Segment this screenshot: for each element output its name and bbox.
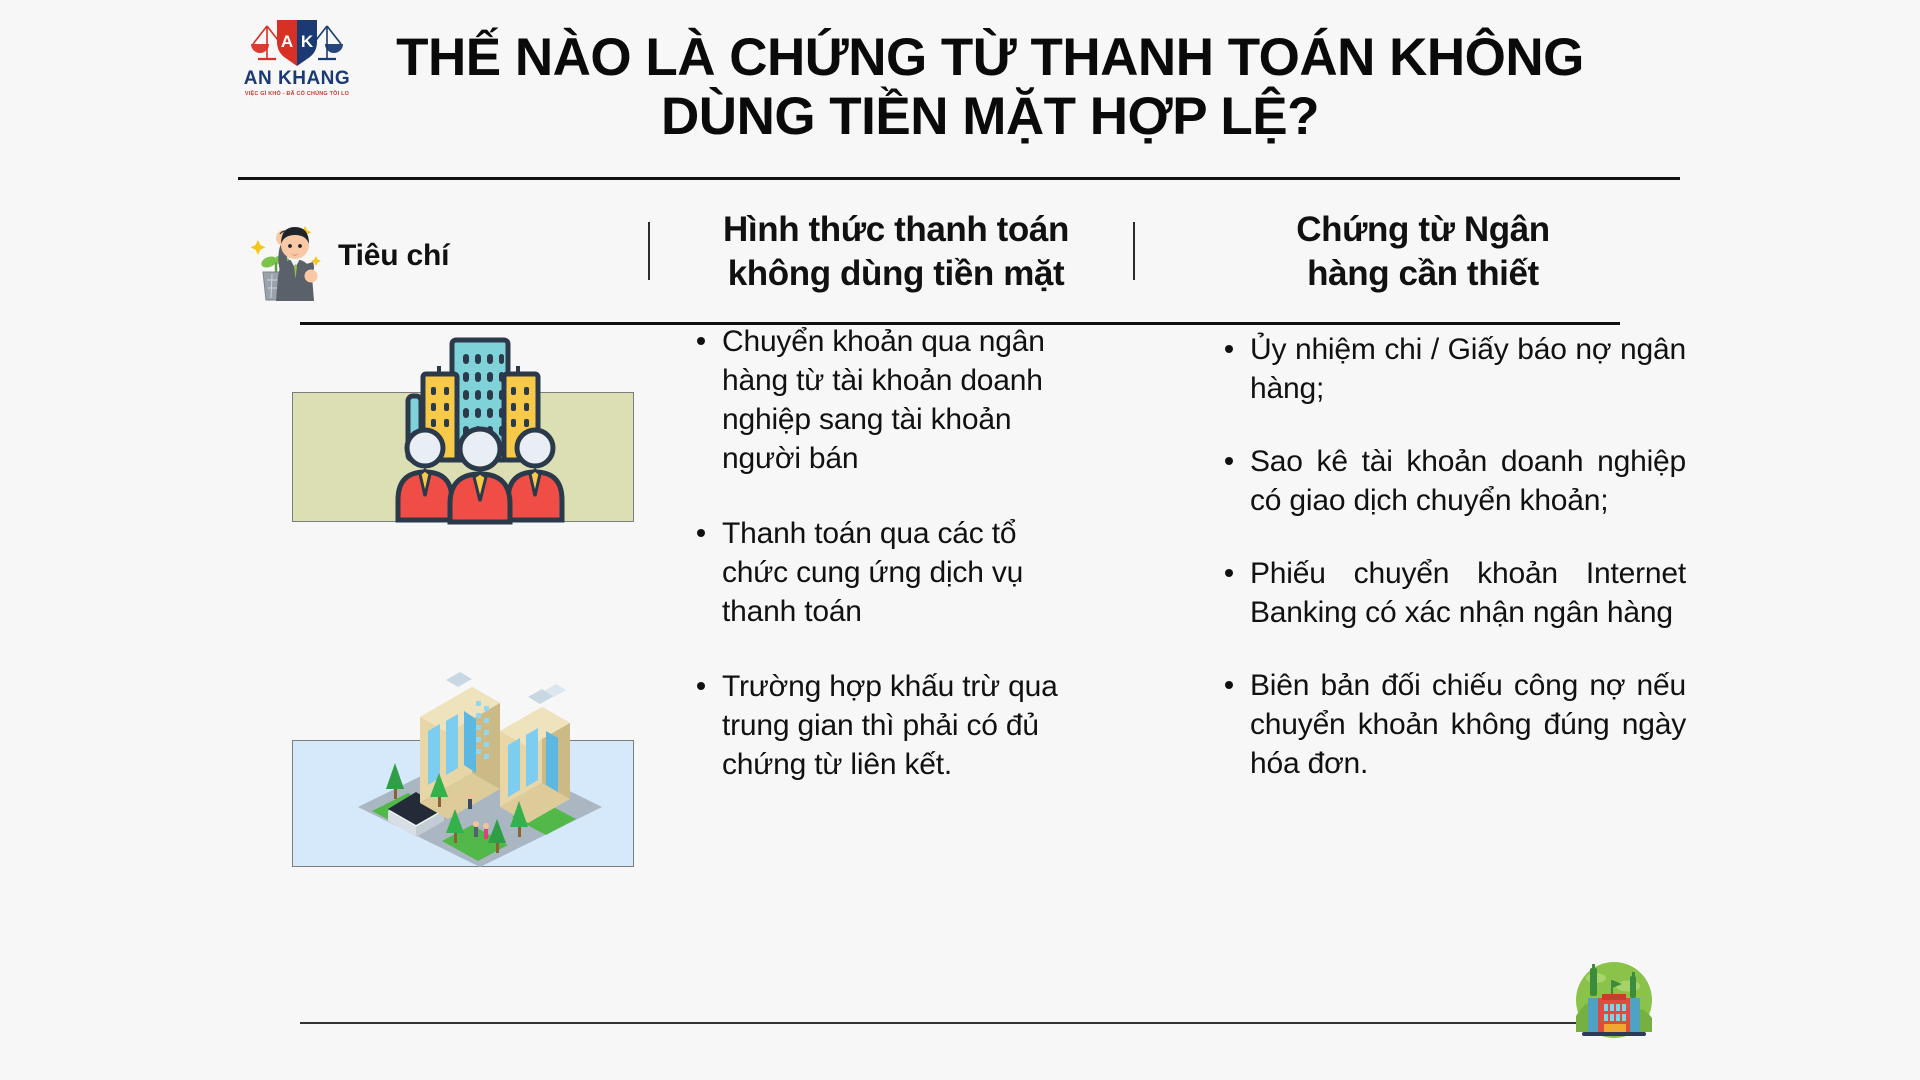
- footer-divider: [300, 1022, 1620, 1024]
- column-header-payment-method-line-1: Hình thức thanh toán: [676, 208, 1116, 252]
- header-divider-2: [1133, 222, 1135, 280]
- list-item: Ủy nhiệm chi / Giấy báo nợ ngân hàng;: [1216, 330, 1686, 408]
- column-header-payment-method: Hình thức thanh toán không dùng tiền mặt: [676, 208, 1116, 296]
- list-item: Biên bản đối chiếu công nợ nếu chuyển kh…: [1216, 666, 1686, 783]
- svg-text:K: K: [301, 32, 314, 51]
- svg-text:A: A: [281, 32, 293, 51]
- list-item: Phiếu chuyển khoản Internet Banking có x…: [1216, 554, 1686, 632]
- table-header-row: Tiêu chí Hình thức thanh toán không dùng…: [238, 196, 1680, 322]
- bank-documents-bullet-list: Ủy nhiệm chi / Giấy báo nợ ngân hàng; Sa…: [1216, 330, 1686, 783]
- column-header-bank-documents-line-1: Chứng từ Ngân: [1168, 208, 1678, 252]
- list-item: Trường hợp khấu trừ qua trung gian thì p…: [688, 667, 1088, 784]
- illustration-panel-office-building: [292, 740, 634, 867]
- page-title-line-1: THẾ NÀO LÀ CHỨNG TỪ THANH TOÁN KHÔNG: [340, 28, 1640, 87]
- infographic-page: A K AN KHANG VIỆC GÌ KHÓ - ĐÃ CÓ CHÚNG T…: [0, 0, 1920, 1080]
- an-khang-logo-icon: A K: [247, 14, 347, 68]
- list-item: Thanh toán qua các tổ chức cung ứng dịch…: [688, 514, 1088, 631]
- illustration-panel-businesspeople: [292, 392, 634, 522]
- green-circle-factory-icon: [1566, 954, 1662, 1050]
- column-payment-method: Chuyển khoản qua ngân hàng từ tài khoản …: [688, 322, 1088, 820]
- page-title: THẾ NÀO LÀ CHỨNG TỪ THANH TOÁN KHÔNG DÙN…: [340, 28, 1640, 147]
- brand-tagline: VIỆC GÌ KHÓ - ĐÃ CÓ CHÚNG TÔI LO: [245, 91, 349, 97]
- column-header-criteria: Tiêu chí: [250, 204, 610, 308]
- column-header-payment-method-line-2: không dùng tiền mặt: [676, 252, 1116, 296]
- list-item: Chuyển khoản qua ngân hàng từ tài khoản …: [688, 322, 1088, 478]
- brand-logo: A K AN KHANG VIỆC GÌ KHÓ - ĐÃ CÓ CHÚNG T…: [238, 14, 356, 104]
- brand-name: AN KHANG: [244, 69, 350, 88]
- column-header-bank-documents: Chứng từ Ngân hàng cần thiết: [1168, 208, 1678, 296]
- header: A K AN KHANG VIỆC GÌ KHÓ - ĐÃ CÓ CHÚNG T…: [0, 0, 1920, 168]
- table-body: Chuyển khoản qua ngân hàng từ tài khoản …: [0, 340, 1920, 960]
- header-divider: [238, 177, 1680, 180]
- header-divider-1: [648, 222, 650, 280]
- column-header-criteria-label: Tiêu chí: [338, 239, 449, 273]
- cheering-businessman-icon: [250, 210, 328, 302]
- column-bank-documents: Ủy nhiệm chi / Giấy báo nợ ngân hàng; Sa…: [1216, 330, 1686, 817]
- list-item: Sao kê tài khoản doanh nghiệp có giao dị…: [1216, 442, 1686, 520]
- page-title-line-2: DÙNG TIỀN MẶT HỢP LỆ?: [340, 87, 1640, 146]
- column-header-bank-documents-line-2: hàng cần thiết: [1168, 252, 1678, 296]
- payment-method-bullet-list: Chuyển khoản qua ngân hàng từ tài khoản …: [688, 322, 1088, 784]
